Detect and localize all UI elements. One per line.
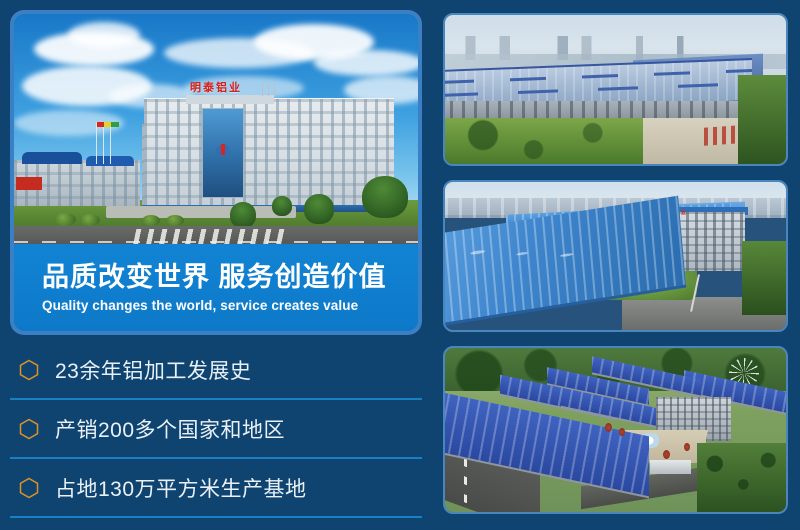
company-headquarters-photo: 明泰铝业: [14, 14, 418, 252]
roof-antenna: [262, 82, 263, 96]
list-item[interactable]: 产销200多个国家和地区: [10, 400, 422, 459]
photo-content: [445, 15, 786, 164]
tree-line: [742, 241, 786, 315]
hero-caption-bar: 品质改变世界 服务创造价值 Quality changes the world,…: [14, 244, 418, 331]
aerial-factory-wide-view[interactable]: [443, 13, 788, 166]
rendering-content: 310国道: [445, 348, 786, 512]
roof-antenna: [274, 82, 275, 96]
tree: [230, 202, 256, 228]
bush: [142, 215, 160, 226]
bush: [80, 214, 100, 226]
hexagon-bullet-icon: [19, 477, 39, 499]
red-signboard: [16, 177, 42, 190]
tree: [362, 176, 408, 218]
tree-line: [738, 75, 786, 164]
front-plaza: [106, 206, 296, 218]
bush: [54, 213, 76, 226]
left-column: 明泰铝业: [0, 0, 432, 530]
entrance-gate: [650, 460, 691, 475]
roof-parapet: [186, 95, 274, 104]
list-item[interactable]: 23余年铝加工发展史: [10, 341, 422, 400]
hexagon-bullet-icon: [19, 359, 39, 381]
list-item-label: 产销200多个国家和地区: [55, 414, 285, 444]
hero-image-inner: 明泰铝业: [14, 14, 418, 331]
caption-chinese: 品质改变世界 服务创造价值: [42, 262, 418, 292]
company-logo-icon: [216, 142, 230, 156]
list-item-label: 占地130万平方米生产基地: [55, 473, 307, 503]
roof-antenna: [268, 82, 269, 96]
banner-stage: 明泰铝业: [0, 0, 800, 530]
blue-roof: [22, 152, 82, 164]
hexagon-bullet-icon: [19, 418, 39, 440]
hero-image-frame: 明泰铝业: [10, 10, 422, 335]
green-landscaping: [445, 116, 656, 164]
highlights-list: 23余年铝加工发展史 产销200多个国家和地区 占地130万平方米生产基地: [10, 341, 422, 518]
photo-content: 明泰铝业: [445, 182, 786, 330]
ornamental-tree: [663, 450, 670, 459]
building-roof-sign: 明泰铝业: [190, 83, 242, 94]
caption-english: Quality changes the world, service creat…: [42, 298, 418, 313]
ornamental-tree: [684, 443, 690, 451]
list-item-label: 23余年铝加工发展史: [55, 355, 251, 385]
flagpoles: [94, 122, 118, 164]
factory-3d-rendering[interactable]: 310国道: [443, 346, 788, 514]
tree-line: [697, 443, 786, 512]
tree: [304, 194, 334, 224]
plant-facade: [443, 101, 759, 117]
glass-curtain-wall: [202, 108, 244, 198]
list-item[interactable]: 占地130万平方米生产基地: [10, 459, 422, 518]
window-grid: [144, 99, 394, 210]
tree: [272, 196, 292, 216]
cloud: [68, 22, 140, 48]
cloud: [314, 50, 418, 76]
main-office-tower: [144, 98, 394, 210]
right-column: 明泰铝业 310国道: [443, 0, 800, 530]
bush: [166, 215, 184, 226]
aerial-factory-blue-roofs[interactable]: 明泰铝业: [443, 180, 788, 332]
